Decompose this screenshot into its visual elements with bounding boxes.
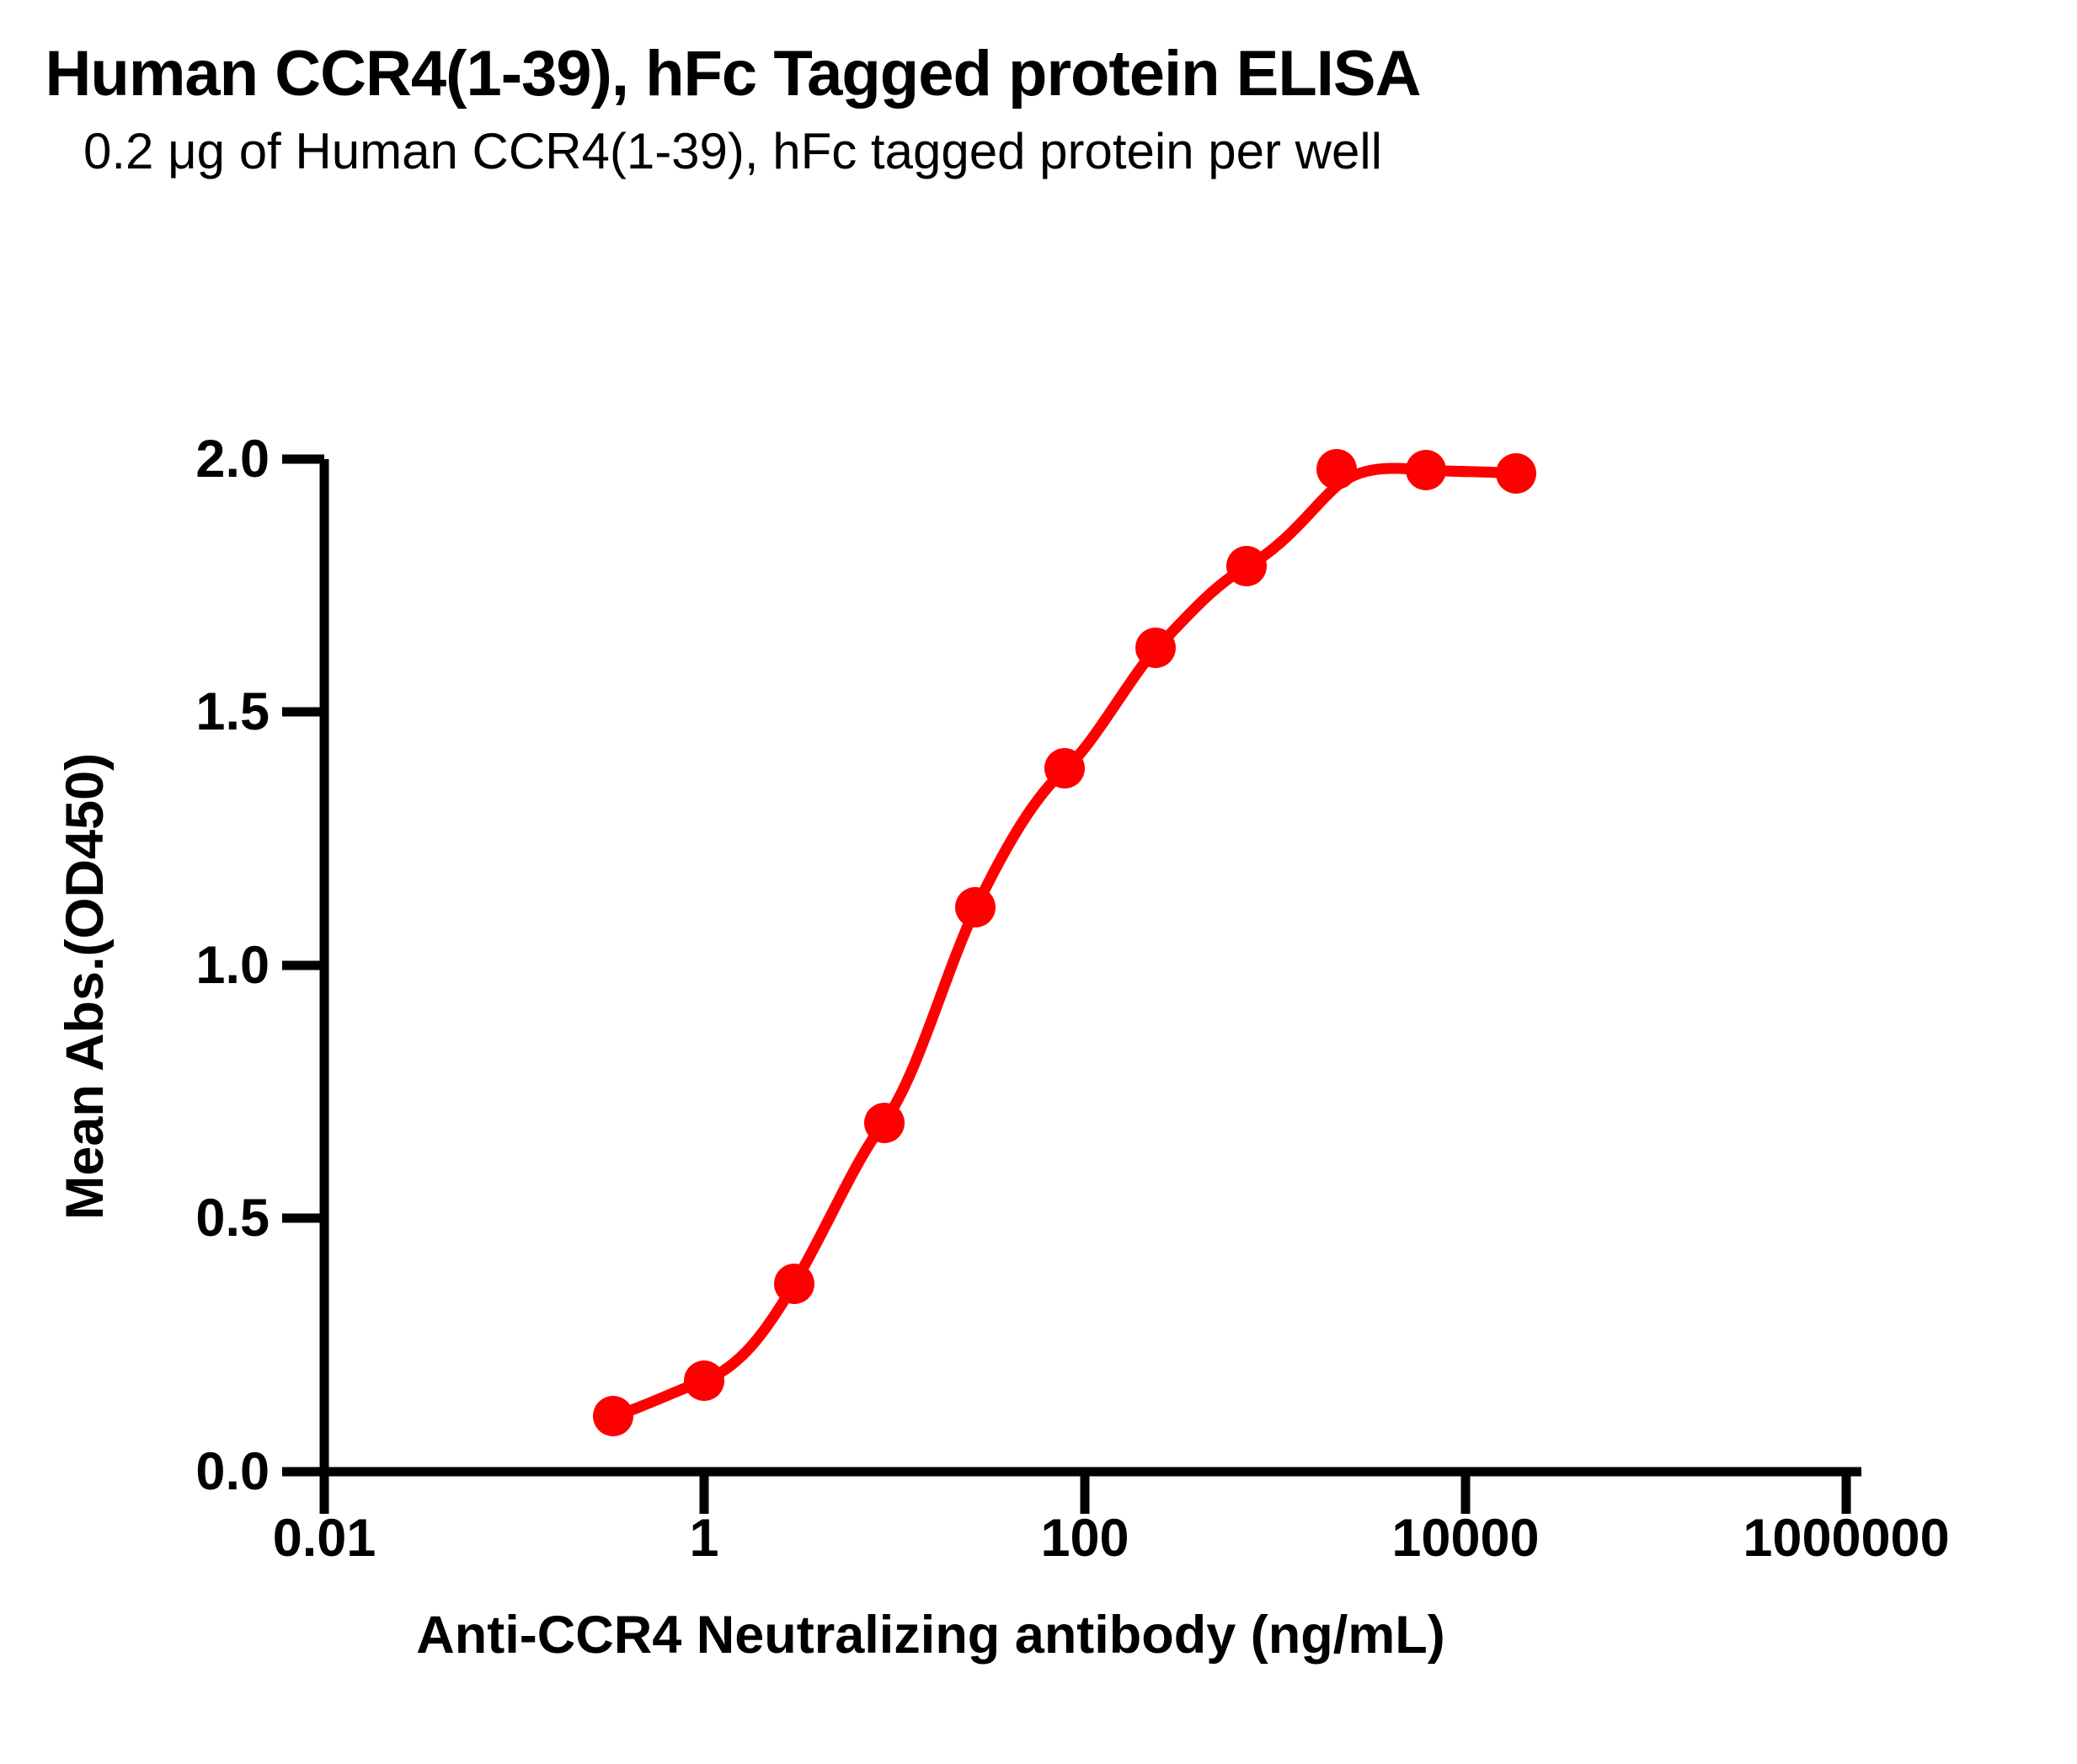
data-point xyxy=(1135,628,1176,668)
elisa-chart-figure: Human CCR4(1-39), hFc Tagged protein ELI… xyxy=(0,0,2077,1764)
data-point xyxy=(1496,453,1536,494)
data-point xyxy=(593,1396,633,1436)
data-point xyxy=(955,887,996,927)
data-points xyxy=(593,449,1536,1436)
data-point xyxy=(1316,449,1357,489)
fit-curve xyxy=(613,468,1516,1416)
data-point xyxy=(864,1103,905,1143)
data-point xyxy=(1406,450,1446,490)
data-point xyxy=(684,1360,724,1401)
plot-area xyxy=(0,0,2077,1764)
data-point xyxy=(1226,546,1267,586)
data-point xyxy=(774,1264,814,1304)
data-point xyxy=(1044,748,1085,788)
y-tick-marks xyxy=(282,459,324,1472)
x-tick-marks xyxy=(324,1472,1846,1514)
